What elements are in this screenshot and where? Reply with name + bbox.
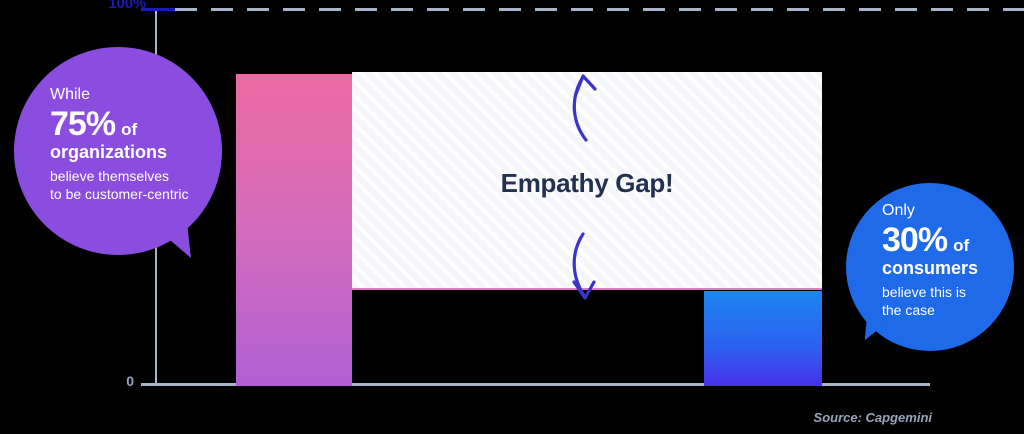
y-axis-tick-100: 100% <box>78 0 146 12</box>
callout-organizations-text: While 75% of organizations believe thems… <box>14 47 222 255</box>
callout-left-value: 75% <box>50 107 115 141</box>
y-axis-tick-0: 0 <box>78 373 134 389</box>
callout-left-detail-2: to be customer-centric <box>50 185 194 203</box>
callout-left-of: of <box>121 121 137 138</box>
empathy-gap-label: Empathy Gap! <box>352 168 822 199</box>
infographic-chart: 100% 0 Empathy Gap! While 75% of <box>0 0 1024 434</box>
callout-right-intro: Only <box>882 201 994 221</box>
source-attribution: Source: Capgemini <box>814 410 932 425</box>
callout-left-value-row: 75% of <box>50 107 194 141</box>
callout-organizations: While 75% of organizations believe thems… <box>14 47 222 255</box>
callout-left-detail-1: believe themselves <box>50 167 194 185</box>
curved-arrow-up-icon <box>562 70 606 147</box>
empathy-gap-panel: Empathy Gap! <box>352 72 822 290</box>
callout-left-subject: organizations <box>50 141 194 164</box>
bar-organizations <box>236 74 352 386</box>
curved-arrow-down-icon <box>562 232 606 309</box>
gridline-100-leader <box>141 8 177 11</box>
callout-consumers: Only 30% of consumers believe this is th… <box>846 183 1014 351</box>
callout-right-subject: consumers <box>882 257 994 280</box>
callout-right-value-row: 30% of <box>882 223 994 257</box>
bar-consumers <box>704 291 822 386</box>
callout-right-detail-2: the case <box>882 301 994 319</box>
callout-left-intro: While <box>50 85 194 105</box>
callout-right-detail-1: believe this is <box>882 283 994 301</box>
callout-consumers-text: Only 30% of consumers believe this is th… <box>846 183 1014 351</box>
callout-right-value: 30% <box>882 223 947 257</box>
callout-right-of: of <box>953 237 969 254</box>
gridline-100-dashed <box>175 8 1024 11</box>
